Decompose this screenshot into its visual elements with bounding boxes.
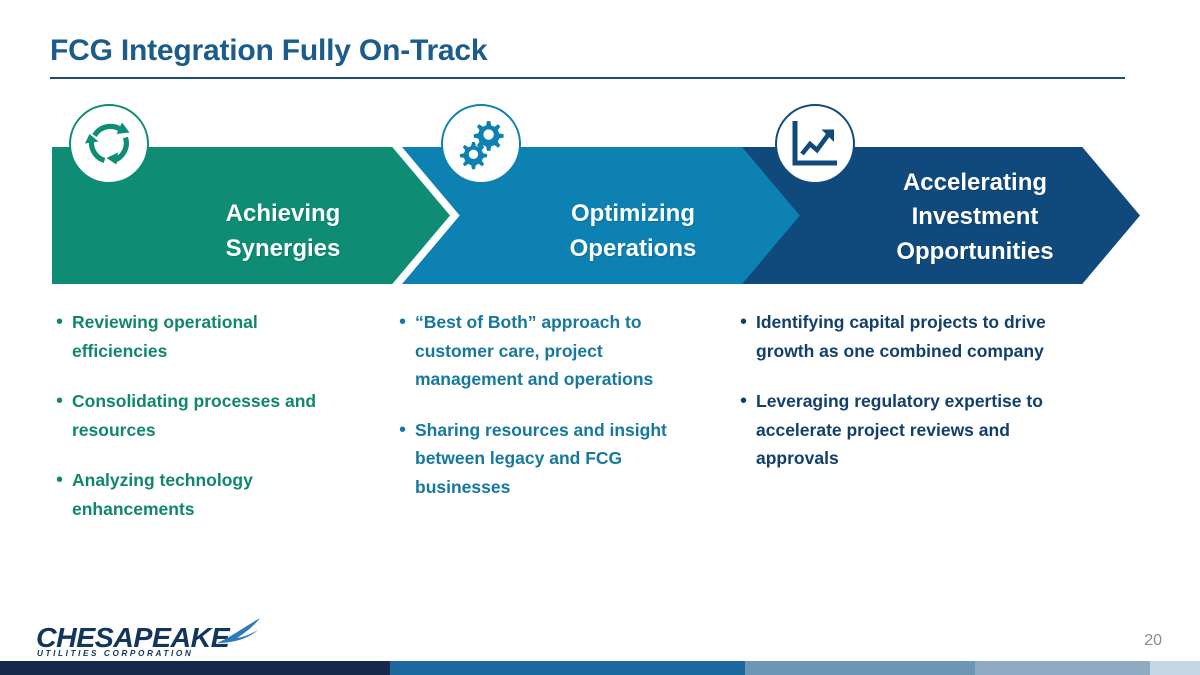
footer-segment	[1150, 661, 1200, 675]
page-title-container: FCG Integration Fully On-Track	[50, 34, 1130, 69]
list-item-text: Sharing resources and insight between le…	[415, 416, 689, 502]
circular-arrows-icon-badge	[69, 104, 149, 184]
title-underline-divider	[50, 77, 1125, 79]
list-item: • Analyzing technology enhancements	[56, 466, 356, 523]
list-item: • “Best of Both” approach to customer ca…	[399, 308, 689, 394]
list-item: • Leveraging regulatory expertise to acc…	[740, 387, 1050, 473]
bullet-marker-icon: •	[740, 387, 756, 473]
list-item: • Consolidating processes and resources	[56, 387, 356, 444]
gears-icon	[453, 116, 509, 172]
bullet-marker-icon: •	[399, 308, 415, 394]
footer-segment	[745, 661, 975, 675]
list-item-text: Identifying capital projects to drive gr…	[756, 308, 1050, 365]
circular-arrows-icon	[80, 115, 138, 173]
bullet-column-achieving-synergies: • Reviewing operational efficiencies • C…	[56, 308, 356, 545]
page-number: 20	[1144, 632, 1162, 650]
list-item: • Identifying capital projects to drive …	[740, 308, 1050, 365]
bullet-columns: • Reviewing operational efficiencies • C…	[0, 308, 1200, 568]
list-item-text: Reviewing operational efficiencies	[72, 308, 356, 365]
process-stage-label: Achieving Synergies	[210, 197, 341, 265]
list-item-text: Leveraging regulatory expertise to accel…	[756, 387, 1050, 473]
bullet-marker-icon: •	[56, 466, 72, 523]
list-item: • Reviewing operational efficiencies	[56, 308, 356, 365]
list-item-text: Analyzing technology enhancements	[72, 466, 356, 523]
slide-canvas: FCG Integration Fully On-Track Achieving…	[0, 0, 1200, 675]
list-item-text: “Best of Both” approach to customer care…	[415, 308, 689, 394]
list-item-text: Consolidating processes and resources	[72, 387, 356, 444]
bullet-marker-icon: •	[740, 308, 756, 365]
process-stage-label: Optimizing Operations	[554, 197, 697, 265]
growth-chart-icon-badge	[775, 104, 855, 184]
growth-chart-icon	[788, 117, 842, 171]
footer-segment	[0, 661, 390, 675]
footer-color-bar	[0, 661, 1200, 675]
gears-icon-badge	[441, 104, 521, 184]
logo-subtitle: UTILITIES CORPORATION	[37, 649, 193, 658]
bullet-marker-icon: •	[56, 387, 72, 444]
list-item: • Sharing resources and insight between …	[399, 416, 689, 502]
swoosh-bird-icon	[213, 616, 269, 651]
bullet-column-accelerating-investment-opportunities: • Identifying capital projects to drive …	[740, 308, 1050, 495]
footer-segment	[975, 661, 1150, 675]
bullet-column-optimizing-operations: • “Best of Both” approach to customer ca…	[399, 308, 689, 523]
bullet-marker-icon: •	[399, 416, 415, 502]
process-chevron-band: Achieving Synergies Optimizing Operation…	[0, 147, 1200, 284]
footer-segment	[390, 661, 745, 675]
bullet-marker-icon: •	[56, 308, 72, 365]
process-stage-label: Accelerating Investment Opportunities	[880, 166, 1053, 268]
page-title: FCG Integration Fully On-Track	[50, 34, 1130, 69]
company-logo: CHESAPEAKE UTILITIES CORPORATION	[36, 616, 266, 660]
